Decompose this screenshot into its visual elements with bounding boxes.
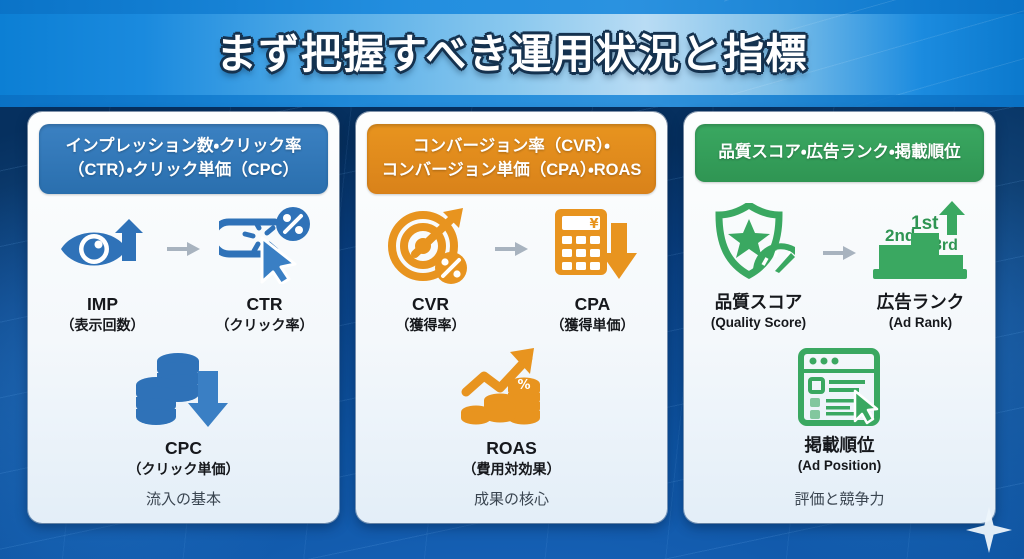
calculator-yen-down-arrow-icon: ¥ [534, 202, 652, 288]
metric-quality-score-sub: (Quality Score) [700, 314, 818, 331]
metric-quality-score[interactable]: 品質スコア (Quality Score) [700, 200, 818, 331]
page-title: まず把握すべき運用状況と指標 [0, 20, 1024, 80]
metric-card-quality[interactable]: 品質スコア・広告ランク・掲載順位 [684, 112, 995, 523]
card-header-line1: インプレッション数・クリック率 [65, 137, 301, 155]
arrow-right-icon [494, 202, 530, 258]
target-arrow-percent-icon [372, 202, 490, 288]
eye-up-arrow-icon [44, 202, 162, 288]
coins-down-arrow-icon [120, 348, 248, 432]
card-quality-top-row: 品質スコア (Quality Score) 2nd 1st 3rd [694, 200, 985, 331]
arrow-right-icon [822, 200, 858, 262]
card-header-line1: コンバージョン率（CVR）・ [413, 137, 610, 155]
card-header-traffic: インプレッション数・クリック率 （CTR）・クリック単価（CPC） [39, 124, 328, 194]
metric-cpc-sub: （クリック単価） [120, 460, 248, 478]
card-footer-traffic: 流入の基本 [28, 488, 339, 509]
card-header-line2: （CTR）・クリック単価（CPC） [68, 161, 299, 179]
metric-cvr[interactable]: CVR （獲得率） [372, 202, 490, 334]
metric-roas[interactable]: % ROAS （費用対効果） [448, 348, 576, 478]
card-traffic-top-row: IMP （表示回数） [38, 202, 329, 334]
svg-text:1st: 1st [911, 213, 939, 234]
metric-quality-score-name: 品質スコア [700, 292, 818, 314]
metric-ctr[interactable]: CTR （クリック率） [206, 202, 324, 334]
metric-cvr-name: CVR [372, 294, 490, 316]
slide-canvas: まず把握すべき運用状況と指標 インプレッション数・クリック率 （CTR）・クリッ… [0, 0, 1024, 559]
card-footer-conversion: 成果の核心 [356, 488, 667, 509]
metric-cpa-name: CPA [534, 294, 652, 316]
metric-ad-rank-sub: (Ad Rank) [862, 314, 980, 331]
metric-cards-row: インプレッション数・クリック率 （CTR）・クリック単価（CPC） [28, 112, 996, 527]
metric-ad-position[interactable]: 掲載順位 (Ad Position) [776, 345, 904, 474]
metric-imp-sub: （表示回数） [44, 316, 162, 334]
card-quality-bottom-row: 掲載順位 (Ad Position) [694, 345, 985, 474]
metric-cpa[interactable]: ¥ [534, 202, 652, 334]
card-header-line2: コンバージョン単価（CPA）・ROAS [382, 161, 642, 179]
metric-roas-name: ROAS [448, 438, 576, 460]
metric-cvr-sub: （獲得率） [372, 316, 490, 334]
metric-imp-name: IMP [44, 294, 162, 316]
metric-ad-position-sub: (Ad Position) [776, 457, 904, 474]
card-header-quality: 品質スコア・広告ランク・掲載順位 [695, 124, 984, 182]
browser-list-cursor-icon [776, 345, 904, 429]
metric-card-traffic[interactable]: インプレッション数・クリック率 （CTR）・クリック単価（CPC） [28, 112, 339, 523]
card-conversion-bottom-row: % ROAS （費用対効果） [366, 348, 657, 478]
svg-text:%: % [517, 378, 530, 393]
card-conversion-top-row: CVR （獲得率） ¥ [366, 202, 657, 334]
metric-ad-rank[interactable]: 2nd 1st 3rd 広告ランク [862, 200, 980, 331]
card-header-line1: 品質スコア・広告ランク・掲載順位 [718, 141, 960, 165]
card-footer-quality: 評価と競争力 [684, 488, 995, 509]
metric-cpc-name: CPC [120, 438, 248, 460]
card-header-conversion: コンバージョン率（CVR）・ コンバージョン単価（CPA）・ROAS [367, 124, 656, 194]
shield-star-gauge-icon [700, 200, 818, 286]
metric-ctr-name: CTR [206, 294, 324, 316]
metric-imp[interactable]: IMP （表示回数） [44, 202, 162, 334]
arrow-right-icon [166, 202, 202, 258]
metric-ctr-sub: （クリック率） [206, 316, 324, 334]
metric-cpc[interactable]: CPC （クリック単価） [120, 348, 248, 478]
coins-growth-chart-icon: % [448, 348, 576, 432]
click-cursor-percent-icon [206, 202, 324, 288]
card-traffic-bottom-row: CPC （クリック単価） [38, 348, 329, 478]
metric-ad-position-name: 掲載順位 [776, 435, 904, 457]
podium-up-arrow-icon: 2nd 1st 3rd [862, 200, 980, 286]
metric-ad-rank-name: 広告ランク [862, 292, 980, 314]
metric-card-conversion[interactable]: コンバージョン率（CVR）・ コンバージョン単価（CPA）・ROAS [356, 112, 667, 523]
metric-roas-sub: （費用対効果） [448, 460, 576, 478]
svg-text:¥: ¥ [589, 217, 598, 232]
metric-cpa-sub: （獲得単価） [534, 316, 652, 334]
